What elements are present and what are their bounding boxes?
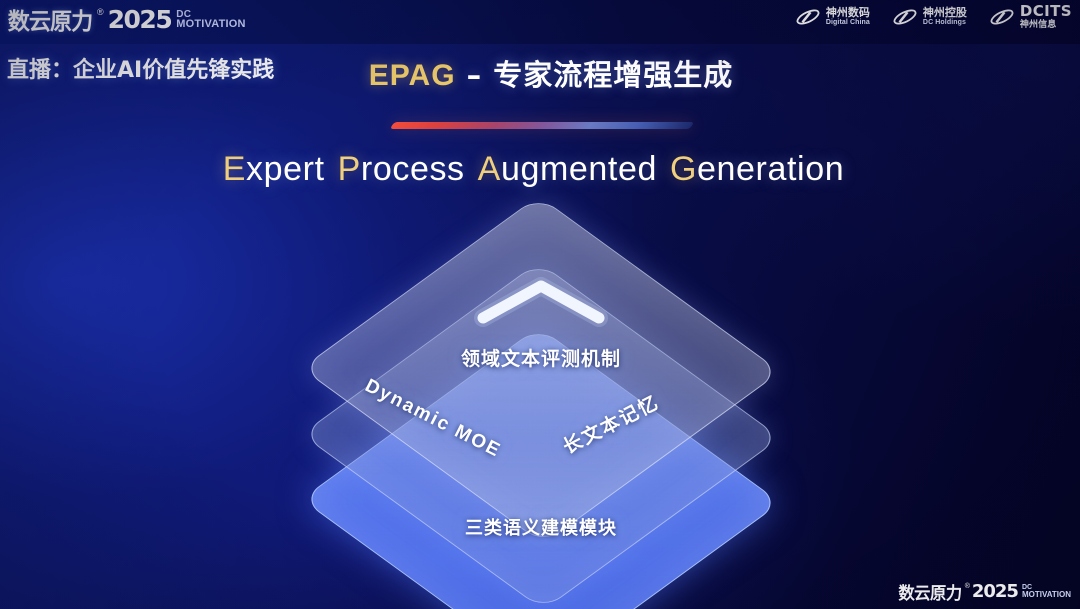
partner-logo-digital-china: 神州数码 Digital China [795, 5, 870, 29]
subtitle-rest: ugmented [501, 150, 657, 188]
subtitle-word-process: Process [338, 150, 465, 188]
subtitle-capital: E [223, 150, 246, 188]
brand-registered-mark: ® [97, 7, 104, 17]
subtitle-word-augmented: Augmented [478, 150, 657, 188]
subtitle-word-expert: Expert [223, 150, 325, 188]
headline-inner: EPAG – 专家流程增强生成 [369, 52, 734, 94]
partner-logo-dc-holdings: 神州控股 DC Holdings [892, 5, 967, 29]
swirl-logo-icon [795, 5, 821, 29]
partner-logo-group: 神州数码 Digital China 神州控股 DC Holdings DCIT… [795, 4, 1072, 29]
partner-name-cn: 神州数码 [826, 7, 870, 19]
diagram-layer-top[interactable] [296, 232, 786, 447]
partner-name-cn: DCITS [1020, 4, 1072, 20]
chevron-up-icon [471, 274, 611, 328]
partner-name-en: DC Holdings [923, 19, 967, 26]
brand-name-cn: 数云原力 [8, 2, 92, 36]
subtitle-rest: rocess [361, 150, 465, 188]
gradient-divider [390, 122, 694, 129]
watermark-dc-motivation: DC MOTIVATION [1022, 585, 1071, 598]
partner-text: 神州控股 DC Holdings [923, 7, 967, 26]
partner-name-en: Digital China [826, 19, 870, 26]
footer-watermark-logo: 数云原力 ® 2025 DC MOTIVATION [897, 579, 1071, 604]
partner-text: DCITS 神州信息 [1020, 4, 1072, 29]
headline-acronym: EPAG [369, 59, 456, 92]
subtitle-capital: P [338, 150, 361, 188]
partner-logo-dcits: DCITS 神州信息 [989, 4, 1072, 29]
headline-chinese: 专家流程增强生成 [493, 58, 733, 92]
subtitle-capital: A [478, 150, 501, 188]
slide-subtitle: ExpertProcessAugmentedGeneration [0, 150, 1080, 189]
slide-headline: EPAG – 专家流程增强生成 [0, 52, 1080, 94]
brand-dc-motivation: DC MOTIVATION [176, 10, 245, 29]
slide-canvas: 数云原力 ® 2025 DC MOTIVATION 直播：企业AI价值先锋实践 … [0, 0, 1080, 609]
headline-dash: – [456, 58, 494, 92]
brand-motivation-text: MOTIVATION [176, 19, 245, 29]
partner-name-en: 神州信息 [1020, 20, 1072, 29]
watermark-registered-mark: ® [965, 583, 970, 590]
subtitle-rest: eneration [697, 150, 844, 188]
watermark-name-cn: 数云原力 [898, 579, 961, 604]
partner-text: 神州数码 Digital China [826, 7, 870, 26]
subtitle-word-generation: Generation [670, 150, 844, 188]
partner-name-cn: 神州控股 [923, 7, 967, 19]
brand-year: 2025 [108, 5, 172, 34]
subtitle-capital: G [670, 150, 697, 188]
watermark-motivation-text: MOTIVATION [1022, 591, 1071, 598]
swirl-logo-icon [892, 5, 918, 29]
swirl-logo-icon [989, 5, 1015, 29]
watermark-year: 2025 [972, 581, 1018, 602]
layered-architecture-diagram: 领域文本评测机制 Dynamic MOE 长文本记忆 三类语义建模模块 [296, 232, 786, 562]
brand-logo: 数云原力 ® 2025 DC MOTIVATION [6, 2, 246, 36]
subtitle-rest: xpert [246, 150, 325, 188]
